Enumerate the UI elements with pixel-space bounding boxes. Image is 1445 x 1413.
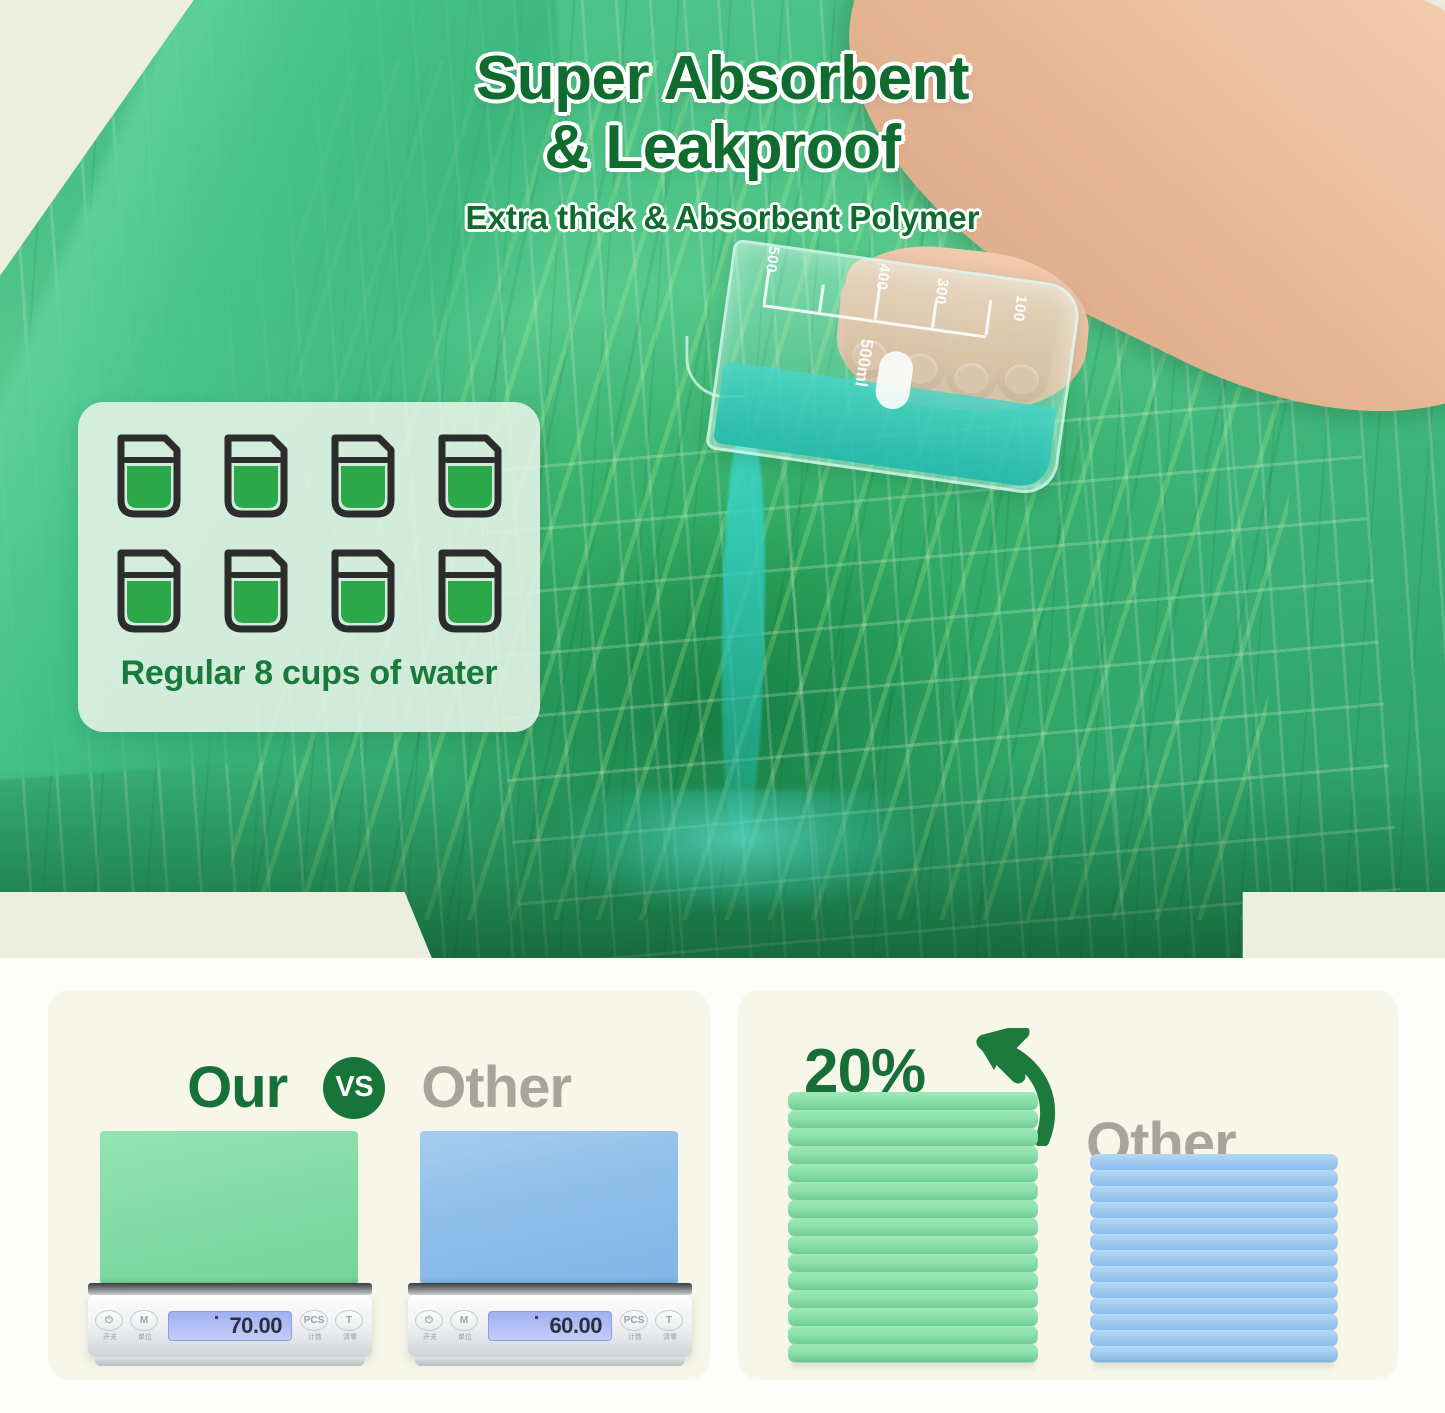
vs-header-row: Our VS Other bbox=[48, 1054, 710, 1121]
other-scale-display: 60.00 bbox=[488, 1311, 612, 1341]
count-icon: PCS bbox=[300, 1310, 328, 1331]
our-kitchen-scale: ⏻ 开关 M 单位 70.00 PCS 计数 T 清零 bbox=[88, 1131, 372, 1366]
scale-control-panel: ⏻ 开关 M 单位 70.00 PCS 计数 T 清零 bbox=[88, 1295, 372, 1357]
scale-button-power[interactable]: ⏻ 开关 bbox=[415, 1310, 445, 1342]
beaker-cup-icon bbox=[327, 547, 399, 640]
lcd-indicator-dot bbox=[535, 1316, 538, 1319]
pad-slab bbox=[788, 1290, 1038, 1308]
beaker-graduation-label-400: 400 bbox=[873, 263, 894, 292]
other-pad-stack bbox=[1090, 1154, 1338, 1362]
scale-button-power[interactable]: ⏻ 开关 bbox=[95, 1310, 125, 1342]
cups-grid bbox=[104, 432, 514, 640]
pad-slab bbox=[788, 1110, 1038, 1128]
comparison-section: Our VS Other ⏻ 开关 M 单位 70.00 bbox=[0, 958, 1445, 1413]
pad-slab bbox=[788, 1146, 1038, 1164]
headline-line-2: & Leakproof bbox=[544, 113, 900, 182]
scale-button-tare[interactable]: T 清零 bbox=[655, 1310, 685, 1342]
pad-slab bbox=[788, 1326, 1038, 1344]
pad-slab bbox=[1090, 1218, 1338, 1234]
scale-button-tare-label: 清零 bbox=[655, 1332, 685, 1342]
tare-icon: T bbox=[655, 1310, 683, 1331]
beaker-cup-icon bbox=[434, 547, 506, 640]
beaker-graduation-tick bbox=[763, 268, 771, 304]
beaker-volume-label: 500ml bbox=[850, 337, 877, 388]
scale-button-count[interactable]: PCS 计数 bbox=[620, 1310, 650, 1342]
beaker-cup-icon bbox=[434, 432, 506, 525]
scale-button-power-label: 开关 bbox=[415, 1332, 445, 1342]
scale-platform bbox=[408, 1283, 692, 1295]
beaker-cup-icon bbox=[113, 432, 185, 525]
beaker-graduation-tick bbox=[818, 284, 825, 312]
pad-slab bbox=[788, 1254, 1038, 1272]
pad-slab bbox=[788, 1128, 1038, 1146]
weight-comparison-panel: Our VS Other ⏻ 开关 M 单位 70.00 bbox=[48, 990, 710, 1380]
pad-slab bbox=[1090, 1266, 1338, 1282]
cups-capacity-badge: Regular 8 cups of water bbox=[78, 402, 540, 732]
pad-slab bbox=[1090, 1298, 1338, 1314]
pad-slab bbox=[1090, 1154, 1338, 1170]
pad-slab bbox=[1090, 1202, 1338, 1218]
scale-button-unit-label: 单位 bbox=[130, 1332, 160, 1342]
pad-slab bbox=[788, 1218, 1038, 1236]
hero-subheadline: Extra thick & Absorbent Polymer bbox=[0, 199, 1445, 237]
pad-slab bbox=[1090, 1314, 1338, 1330]
lcd-indicator-dot bbox=[215, 1316, 218, 1319]
scale-button-unit-label: 单位 bbox=[450, 1332, 480, 1342]
vs-badge: VS bbox=[323, 1057, 385, 1119]
scale-button-count-label: 计数 bbox=[300, 1332, 330, 1342]
beaker-graduation-tick bbox=[984, 300, 992, 336]
pad-slab bbox=[1090, 1234, 1338, 1250]
beaker-cup-icon bbox=[220, 547, 292, 640]
water-splash bbox=[560, 790, 920, 910]
other-label: Other bbox=[421, 1054, 571, 1121]
pad-slab bbox=[1090, 1346, 1338, 1362]
count-icon: PCS bbox=[620, 1310, 648, 1331]
scale-control-panel: ⏻ 开关 M 单位 60.00 PCS 计数 T 清零 bbox=[408, 1295, 692, 1357]
pad-slab bbox=[788, 1308, 1038, 1326]
pad-slab bbox=[1090, 1186, 1338, 1202]
other-weight-reading: 60.00 bbox=[549, 1313, 602, 1339]
our-weight-reading: 70.00 bbox=[229, 1313, 282, 1339]
our-pad-sample bbox=[100, 1131, 358, 1283]
other-kitchen-scale: ⏻ 开关 M 单位 60.00 PCS 计数 T 清零 bbox=[408, 1131, 692, 1366]
page-title: Super Absorbent & Leakproof bbox=[0, 44, 1445, 183]
scale-button-tare[interactable]: T 清零 bbox=[335, 1310, 365, 1342]
pad-slab bbox=[1090, 1250, 1338, 1266]
pad-slab bbox=[788, 1344, 1038, 1362]
scale-button-power-label: 开关 bbox=[95, 1332, 125, 1342]
pad-slab bbox=[1090, 1170, 1338, 1186]
pad-slab bbox=[788, 1272, 1038, 1290]
tare-icon: T bbox=[335, 1310, 363, 1331]
hero-headline-block: Super Absorbent & Leakproof Extra thick … bbox=[0, 44, 1445, 237]
cups-badge-caption: Regular 8 cups of water bbox=[104, 654, 514, 693]
scale-base bbox=[95, 1357, 365, 1366]
scale-button-count[interactable]: PCS 计数 bbox=[300, 1310, 330, 1342]
scale-button-unit[interactable]: M 单位 bbox=[130, 1310, 160, 1342]
headline-line-1: Super Absorbent bbox=[476, 44, 969, 113]
scale-platform bbox=[88, 1283, 372, 1295]
beaker-cup-icon bbox=[113, 547, 185, 640]
our-label: Our bbox=[187, 1054, 287, 1121]
power-icon: ⏻ bbox=[415, 1310, 443, 1331]
scale-button-unit[interactable]: M 单位 bbox=[450, 1310, 480, 1342]
hero-section: 500 400 300 100 500ml Super Absorbent & … bbox=[0, 0, 1445, 958]
power-icon: ⏻ bbox=[95, 1310, 123, 1331]
mode-icon: M bbox=[450, 1310, 478, 1331]
pad-slab bbox=[788, 1164, 1038, 1182]
beaker-graduation-label-100: 100 bbox=[1010, 294, 1031, 323]
thickness-comparison-panel: 20% Other bbox=[738, 990, 1398, 1380]
pad-slab bbox=[1090, 1330, 1338, 1346]
beaker-cup-icon bbox=[327, 432, 399, 525]
beaker-cup-icon bbox=[220, 432, 292, 525]
pad-slab bbox=[1090, 1282, 1338, 1298]
pad-slab bbox=[788, 1182, 1038, 1200]
our-pad-stack bbox=[788, 1092, 1038, 1362]
mode-icon: M bbox=[130, 1310, 158, 1331]
pad-slab bbox=[788, 1092, 1038, 1110]
pad-slab bbox=[788, 1200, 1038, 1218]
other-pad-sample bbox=[420, 1131, 678, 1283]
our-scale-display: 70.00 bbox=[168, 1311, 292, 1341]
scale-button-count-label: 计数 bbox=[620, 1332, 650, 1342]
scale-button-tare-label: 清零 bbox=[335, 1332, 365, 1342]
beaker-graduation-label-300: 300 bbox=[931, 277, 952, 306]
beaker-graduation-label-500: 500 bbox=[762, 245, 783, 274]
scale-base bbox=[415, 1357, 685, 1366]
pad-slab bbox=[788, 1236, 1038, 1254]
